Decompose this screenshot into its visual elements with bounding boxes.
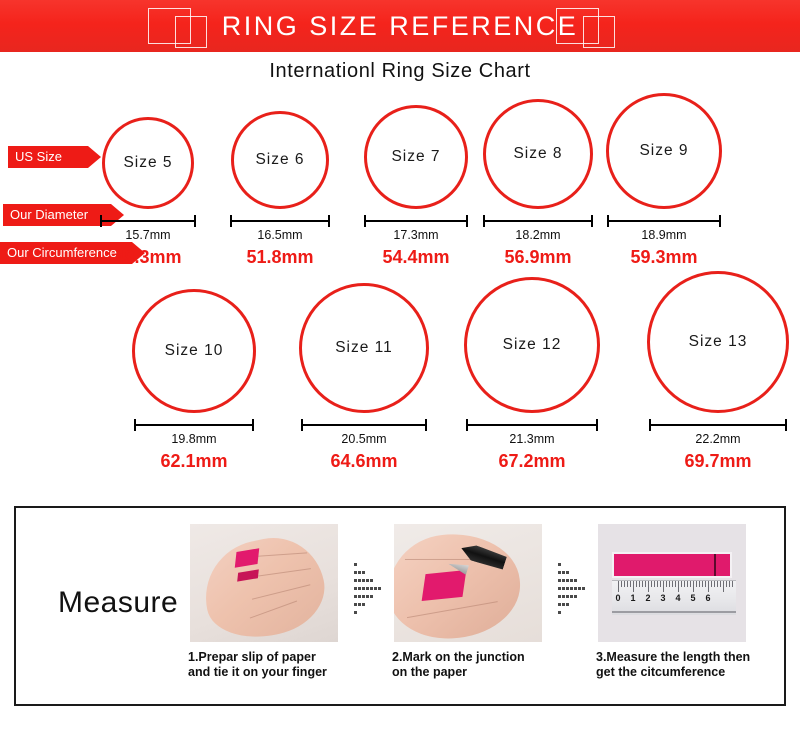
ruler-tick-minor bbox=[711, 581, 712, 587]
ruler-tick-minor bbox=[681, 581, 682, 587]
chart-subtitle: Internationl Ring Size Chart bbox=[0, 60, 800, 83]
circumference-value: 62.1mm bbox=[119, 451, 269, 472]
ruler-number: 0 bbox=[615, 593, 620, 603]
ruler-number: 1 bbox=[630, 593, 635, 603]
ruler-tick-major bbox=[633, 581, 634, 592]
diameter-value: 21.3mm bbox=[457, 432, 607, 446]
ruler-tick-minor bbox=[726, 581, 727, 587]
ruler-tick-minor bbox=[684, 581, 685, 587]
ring-row-first: Size 515.7mm49.3mmSize 616.5mm51.8mmSize… bbox=[0, 95, 800, 270]
ruler-tick-minor bbox=[627, 581, 628, 587]
diameter-dimension-bar bbox=[607, 215, 721, 227]
ring-circle-wrap: Size 11 bbox=[289, 285, 439, 413]
dotted-arrow-right-icon bbox=[354, 570, 380, 604]
ring-size-label: Size 10 bbox=[119, 342, 269, 360]
ruler-tick-minor bbox=[636, 581, 637, 587]
measure-step-1-caption: 1.Prepar slip of paper and tie it on you… bbox=[184, 650, 344, 680]
diameter-dimension-bar bbox=[649, 419, 787, 431]
circumference-value: 51.8mm bbox=[205, 247, 355, 268]
ring-row-second: Size 1019.8mm62.1mmSize 1120.5mm64.6mmSi… bbox=[0, 285, 800, 470]
circumference-value: 59.3mm bbox=[589, 247, 739, 268]
ring-size-label: Size 5 bbox=[73, 154, 223, 172]
ruler-tick-minor bbox=[660, 581, 661, 587]
ruler-tick-minor bbox=[624, 581, 625, 587]
junction-mark bbox=[714, 554, 716, 576]
ring-size-label: Size 6 bbox=[205, 151, 355, 169]
circumference-value: 64.6mm bbox=[289, 451, 439, 472]
ruler-tick-minor bbox=[714, 581, 715, 587]
ruler-tick-minor bbox=[702, 581, 703, 587]
ring-size-cell: Size 1120.5mm64.6mm bbox=[289, 285, 439, 413]
ring-size-label: Size 12 bbox=[457, 336, 607, 354]
ruler-tick-minor bbox=[672, 581, 673, 587]
diameter-dimension-bar bbox=[100, 215, 196, 227]
header-banner: RING SIZE REFERENCE bbox=[0, 0, 800, 52]
ruler-tick-minor bbox=[696, 581, 697, 587]
ruler-tick-minor bbox=[669, 581, 670, 587]
ruler-tick-minor bbox=[651, 581, 652, 587]
ruler-tick-minor bbox=[639, 581, 640, 587]
circumference-value: 67.2mm bbox=[457, 451, 607, 472]
diameter-value: 22.2mm bbox=[643, 432, 793, 446]
ring-size-cell: Size 1019.8mm62.1mm bbox=[119, 285, 269, 413]
diameter-dimension-bar bbox=[466, 419, 598, 431]
ring-size-cell: Size 515.7mm49.3mm bbox=[73, 95, 223, 209]
ring-size-cell: Size 1221.3mm67.2mm bbox=[457, 285, 607, 413]
ruler-tick-minor bbox=[699, 581, 700, 587]
measure-step-1: 1.Prepar slip of paper and tie it on you… bbox=[184, 524, 344, 680]
page-title: RING SIZE REFERENCE bbox=[0, 0, 800, 52]
diameter-value: 16.5mm bbox=[205, 228, 355, 242]
ruler-tick-major bbox=[678, 581, 679, 592]
ring-circle-wrap: Size 10 bbox=[119, 285, 269, 413]
marking-paper-with-pen-photo bbox=[394, 524, 542, 642]
ruler-tick-major bbox=[618, 581, 619, 592]
ruler-tick-major bbox=[708, 581, 709, 592]
measure-instructions-panel: Measure 1.Prepar slip of paper and tie i… bbox=[14, 506, 786, 706]
ring-size-label: Size 13 bbox=[643, 333, 793, 351]
diameter-value: 19.8mm bbox=[119, 432, 269, 446]
circumference-value: 49.3mm bbox=[73, 247, 223, 268]
ruler-tick-minor bbox=[732, 581, 733, 587]
diameter-dimension-bar bbox=[301, 419, 427, 431]
measure-step-3: 0123456 3.Measure the length then get th… bbox=[592, 524, 752, 680]
ruler-number: 2 bbox=[645, 593, 650, 603]
ruler-tick-major bbox=[648, 581, 649, 592]
measure-step-2: 2.Mark on the junction on the paper bbox=[388, 524, 548, 680]
ruler-number: 6 bbox=[705, 593, 710, 603]
diameter-value: 20.5mm bbox=[289, 432, 439, 446]
ruler-tick-minor bbox=[657, 581, 658, 587]
circumference-value: 69.7mm bbox=[643, 451, 793, 472]
measure-step-3-caption: 3.Measure the length then get the citcum… bbox=[592, 650, 752, 680]
ruler-tick-major bbox=[693, 581, 694, 592]
diameter-value: 15.7mm bbox=[73, 228, 223, 242]
ruler-tick-minor bbox=[690, 581, 691, 587]
dotted-arrow-right-icon bbox=[558, 570, 584, 604]
measure-heading: Measure bbox=[58, 586, 178, 620]
ruler-tick-minor bbox=[720, 581, 721, 587]
ring-size-cell: Size 616.5mm51.8mm bbox=[205, 95, 355, 209]
diameter-dimension-bar bbox=[134, 419, 254, 431]
measure-step-2-caption: 2.Mark on the junction on the paper bbox=[388, 650, 548, 680]
ruler-tick-minor bbox=[717, 581, 718, 587]
paper-slip bbox=[612, 552, 732, 578]
ruler-tick-major bbox=[663, 581, 664, 592]
diameter-dimension-bar bbox=[483, 215, 593, 227]
ruler-tick-minor bbox=[723, 581, 724, 592]
ruler-tick-minor bbox=[729, 581, 730, 587]
ruler-number: 5 bbox=[690, 593, 695, 603]
ring-size-cell: Size 918.9mm59.3mm bbox=[589, 95, 739, 209]
ruler-tick-minor bbox=[642, 581, 643, 587]
ruler-tick-minor bbox=[645, 581, 646, 587]
paper-on-ruler-photo: 0123456 bbox=[598, 524, 746, 642]
ruler-tick-minor bbox=[705, 581, 706, 587]
ruler-number: 3 bbox=[660, 593, 665, 603]
ring-circle-wrap: Size 9 bbox=[589, 95, 739, 209]
ruler-tick-minor bbox=[675, 581, 676, 587]
ruler-tick-minor bbox=[666, 581, 667, 587]
ring-circle-wrap: Size 5 bbox=[73, 95, 223, 209]
hand-with-paper-slip-photo bbox=[190, 524, 338, 642]
ruler-tick-minor bbox=[687, 581, 688, 587]
diameter-value: 18.9mm bbox=[589, 228, 739, 242]
ruler-tick-minor bbox=[654, 581, 655, 587]
ring-size-label: Size 9 bbox=[589, 142, 739, 160]
ring-size-label: Size 11 bbox=[289, 339, 439, 357]
ring-circle-wrap: Size 12 bbox=[457, 285, 607, 413]
diameter-dimension-bar bbox=[364, 215, 468, 227]
ruler-tick-minor bbox=[621, 581, 622, 587]
ruler-icon: 0123456 bbox=[612, 580, 736, 615]
ring-size-cell: Size 1322.2mm69.7mm bbox=[643, 285, 793, 413]
ruler-tick-minor bbox=[630, 581, 631, 587]
paper-slip bbox=[422, 570, 467, 601]
diameter-dimension-bar bbox=[230, 215, 330, 227]
ring-circle-wrap: Size 13 bbox=[643, 285, 793, 413]
ruler-number: 4 bbox=[675, 593, 680, 603]
ring-circle-wrap: Size 6 bbox=[205, 95, 355, 209]
